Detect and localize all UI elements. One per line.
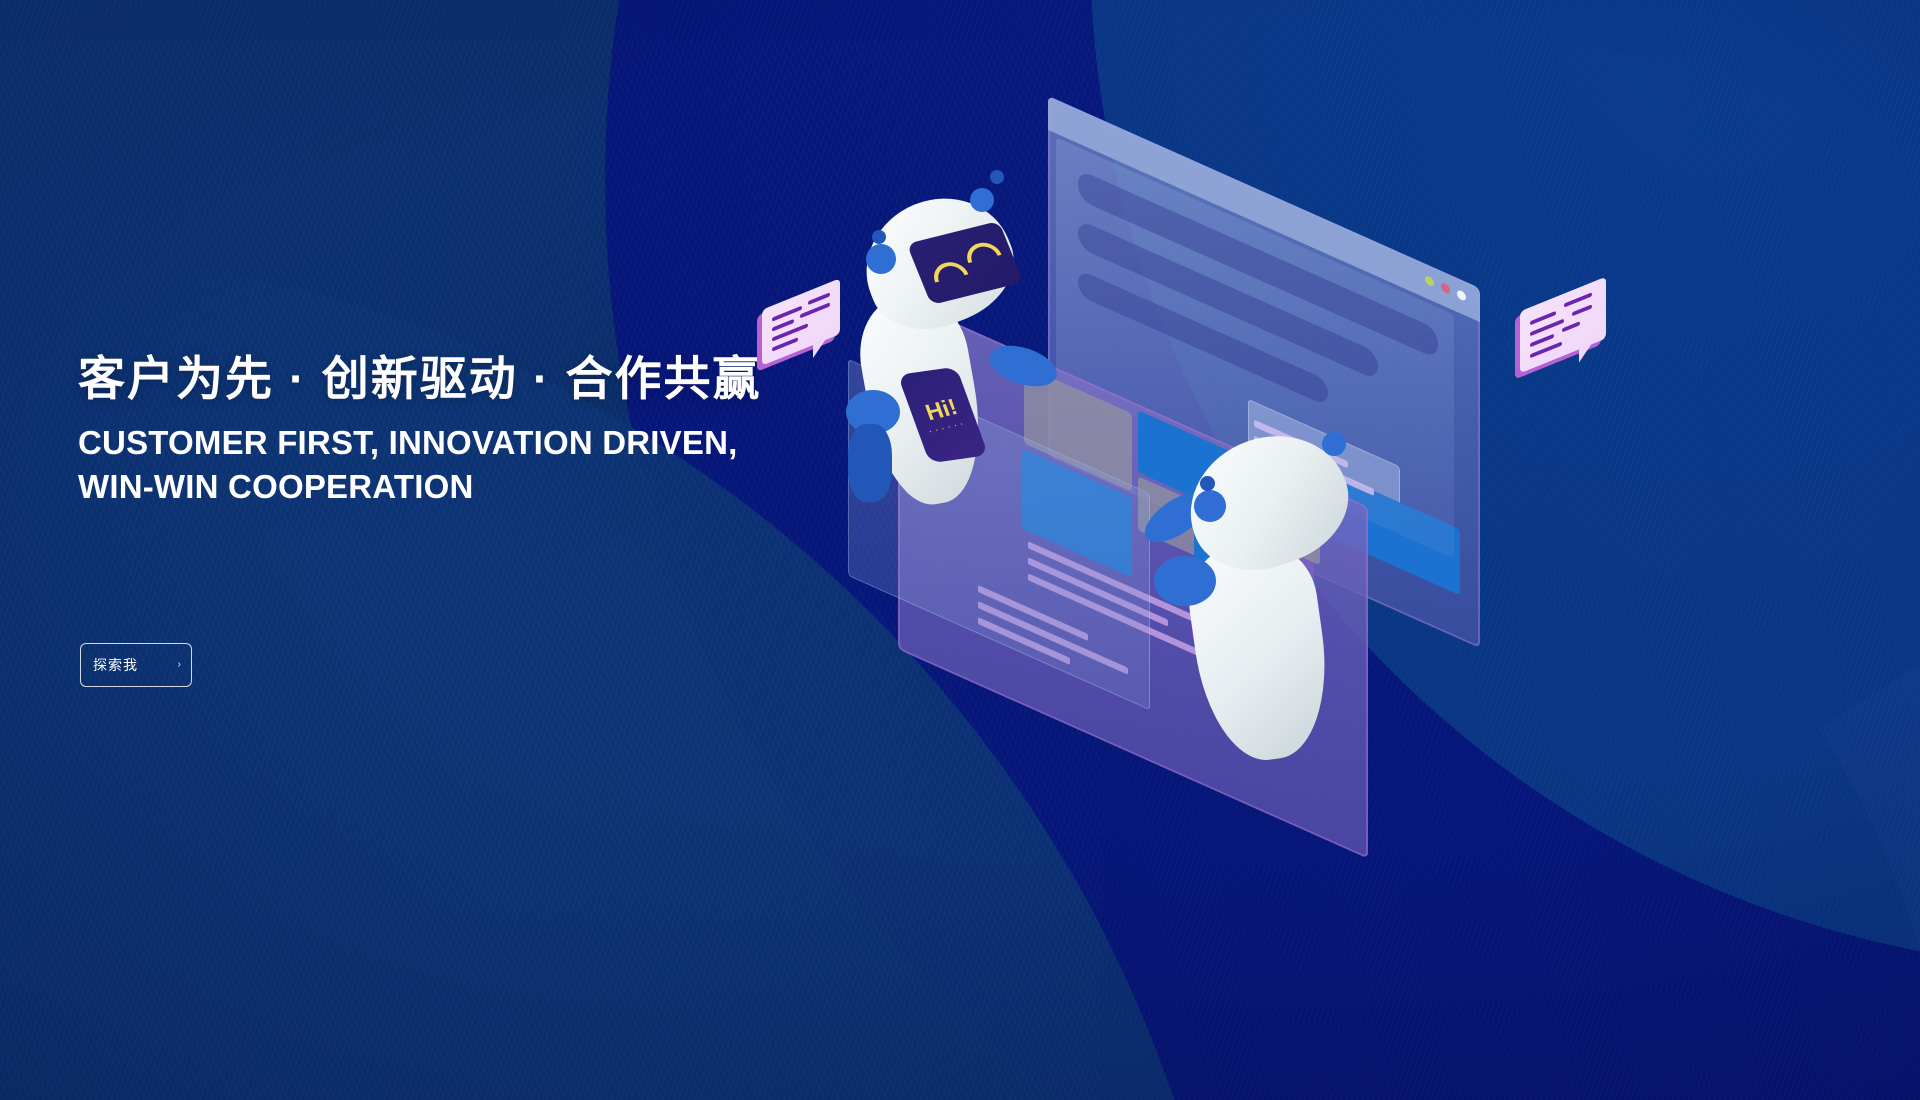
hero-illustration: Hi! ······ (880, 170, 1580, 830)
robot-primary-antenna-dot-small (990, 170, 1004, 184)
hero-banner: 客户为先 · 创新驱动 · 合作共赢 CUSTOMER FIRST, INNOV… (0, 0, 1920, 1100)
traffic-light-red-icon (1441, 282, 1450, 295)
page-subtitle-en-line2: WIN-WIN COOPERATION (78, 468, 473, 505)
robot-primary-arm-lower (848, 424, 892, 502)
explore-button[interactable]: 探索我 › (80, 643, 192, 687)
traffic-light-dots (1425, 275, 1466, 302)
robot-secondary-shoulder (1154, 556, 1216, 606)
robot-eye-left-icon (929, 259, 969, 283)
explore-button-label: 探索我 (93, 655, 138, 675)
robot-eye-right-icon (962, 239, 1002, 263)
robot-primary: Hi! ······ (860, 200, 1050, 530)
hero-copy: 客户为先 · 创新驱动 · 合作共赢 CUSTOMER FIRST, INNOV… (78, 350, 938, 509)
page-title-cn: 客户为先 · 创新驱动 · 合作共赢 (78, 350, 938, 407)
robot-primary-sensor-icon (872, 230, 886, 244)
robot-secondary-antenna-dot (1322, 432, 1346, 456)
traffic-light-green-icon (1425, 275, 1434, 288)
traffic-light-white-icon (1457, 289, 1466, 302)
robot-secondary-ear-icon (1194, 490, 1226, 522)
page-subtitle-en: CUSTOMER FIRST, INNOVATION DRIVEN, WIN-W… (78, 421, 878, 509)
robot-secondary (1180, 438, 1390, 758)
page-subtitle-en-line1: CUSTOMER FIRST, INNOVATION DRIVEN, (78, 424, 738, 461)
chevron-right-icon: › (178, 660, 181, 670)
robot-primary-antenna-dot (970, 188, 994, 212)
robot-primary-ear-icon (866, 244, 896, 274)
robot-secondary-sensor-icon (1200, 476, 1215, 491)
